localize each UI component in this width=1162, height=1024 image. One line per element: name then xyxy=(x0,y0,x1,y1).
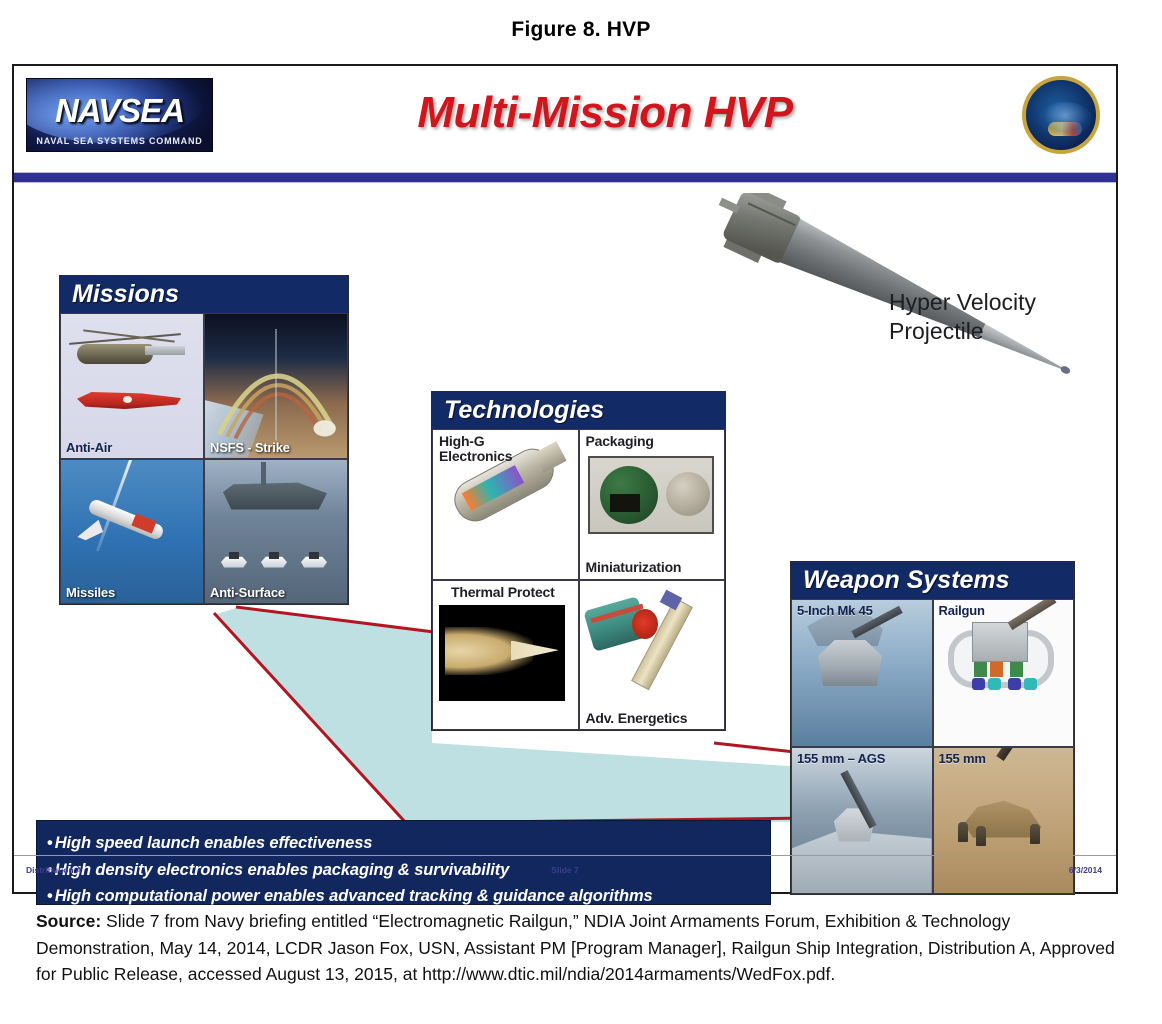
mission-label-anti-surface: Anti-Surface xyxy=(210,585,285,600)
crew-figure-icon xyxy=(976,826,986,846)
slide-title: Multi-Mission HVP xyxy=(224,88,986,138)
railgun-capacitor-icon xyxy=(1024,678,1037,690)
tech-label-thermal-protect: Thermal Protect xyxy=(451,585,555,600)
mission-cell-nsfs-strike[interactable]: NSFS - Strike xyxy=(204,313,348,459)
technologies-cell-grid: High-G Electronics Packaging Miniaturiza… xyxy=(432,429,725,730)
connector-line-missions-to-bullets xyxy=(214,613,406,823)
missile-body-icon xyxy=(87,497,165,540)
projectile-nose-tip xyxy=(1059,365,1071,376)
projectile-tail-stub xyxy=(719,198,741,214)
railgun-capacitor-icon xyxy=(972,678,985,690)
technologies-panel: Technologies High-G Electronics Packagin… xyxy=(431,391,726,731)
bullet-item: High speed launch enables effectiveness xyxy=(47,830,770,857)
small-boat-mark-icon xyxy=(309,552,319,559)
mission-cell-anti-surface[interactable]: Anti-Surface xyxy=(204,459,348,605)
small-boat-mark-icon xyxy=(229,552,239,559)
railgun-module-icon xyxy=(990,662,1003,677)
energetics-cylinder-end-icon xyxy=(632,609,658,639)
figure-caption: Figure 8. HVP xyxy=(0,18,1162,42)
helicopter-tail-icon xyxy=(145,346,185,355)
header-divider-rule xyxy=(14,172,1116,183)
thermal-nose-tip-graphic xyxy=(511,641,559,661)
weapon-systems-cell-grid: 5-Inch Mk 45 Railgun xyxy=(791,599,1074,894)
tech-cell-packaging-miniaturization[interactable]: Packaging Miniaturization xyxy=(579,429,726,580)
connector-line-missions-to-tech xyxy=(236,607,434,632)
missions-panel-title: Missions xyxy=(60,276,348,313)
mission-cell-anti-air[interactable]: Anti-Air xyxy=(60,313,204,459)
railgun-module-icon xyxy=(974,662,987,677)
railgun-capacitor-icon xyxy=(988,678,1001,690)
source-caption: Source: Slide 7 from Navy briefing entit… xyxy=(36,908,1128,988)
railgun-housing-icon xyxy=(972,622,1028,662)
navsea-logo: NAVSEA NAVAL SEA SYSTEMS COMMAND xyxy=(26,78,213,152)
warship-mast-icon xyxy=(261,462,266,486)
mission-label-nsfs-strike: NSFS - Strike xyxy=(210,440,290,455)
slide-footer: Distribution A Slide 7 6/3/2014 xyxy=(14,855,1116,892)
weapon-cell-railgun[interactable]: Railgun xyxy=(933,599,1075,747)
tech-label-miniaturization: Miniaturization xyxy=(586,560,682,575)
slide-header: NAVSEA NAVAL SEA SYSTEMS COMMAND Multi-M… xyxy=(14,66,1116,172)
tech-cell-adv-energetics[interactable]: Adv. Energetics xyxy=(579,580,726,731)
crew-figure-icon xyxy=(1030,824,1040,844)
weapon-label-railgun: Railgun xyxy=(939,603,985,618)
missions-panel: Missions Anti-Air xyxy=(59,275,349,605)
railgun-barrel-icon xyxy=(1007,599,1056,630)
weapon-systems-panel: Weapon Systems 5-Inch Mk 45 xyxy=(790,561,1075,895)
source-label: Source: xyxy=(36,911,101,931)
navsea-subtitle: NAVAL SEA SYSTEMS COMMAND xyxy=(27,136,212,146)
footer-date: 6/3/2014 xyxy=(1069,865,1102,875)
weapon-label-5-inch-mk-45: 5-Inch Mk 45 xyxy=(797,603,873,618)
circuit-board-photo xyxy=(588,456,714,534)
helicopter-body-icon xyxy=(77,344,153,364)
technologies-panel-title: Technologies xyxy=(432,392,725,429)
navsea-wordmark: NAVSEA xyxy=(27,92,212,130)
tech-cell-thermal-protect[interactable]: Thermal Protect xyxy=(432,580,579,731)
trajectory-arc-graphic xyxy=(205,314,347,458)
hyper-velocity-projectile-label: Hyper Velocity Projectile xyxy=(889,288,1036,347)
navy-seal-core-graphic xyxy=(1048,122,1082,136)
drone-marking-icon xyxy=(123,396,132,403)
small-boat-mark-icon xyxy=(269,552,279,559)
howitzer-barrel-icon xyxy=(996,747,1038,761)
mission-label-missiles: Missiles xyxy=(66,585,115,600)
railgun-capacitor-icon xyxy=(1008,678,1021,690)
mission-label-anti-air: Anti-Air xyxy=(66,440,112,455)
tech-label-packaging: Packaging xyxy=(586,434,654,449)
thermal-protection-photo xyxy=(439,605,565,701)
coin-scale-reference-icon xyxy=(666,472,710,516)
mission-cell-missiles[interactable]: Missiles xyxy=(60,459,204,605)
navy-seal-icon xyxy=(1022,76,1100,154)
railgun-module-icon xyxy=(1010,662,1023,677)
slide-frame: NAVSEA NAVAL SEA SYSTEMS COMMAND Multi-M… xyxy=(12,64,1118,894)
warship-icon xyxy=(223,482,327,510)
weapon-label-155mm: 155 mm xyxy=(939,751,986,766)
crew-figure-icon xyxy=(958,822,968,842)
weapon-label-155mm-ags: 155 mm – AGS xyxy=(797,751,885,766)
weapon-cell-5-inch-mk-45[interactable]: 5-Inch Mk 45 xyxy=(791,599,933,747)
tech-cell-high-g-electronics[interactable]: High-G Electronics xyxy=(432,429,579,580)
slide-body: Hyper Velocity Projectile Missions Anti-… xyxy=(14,183,1116,892)
missions-cell-grid: Anti-Air NSFS - Strike xyxy=(60,313,348,604)
footer-slide-number: Slide 7 xyxy=(14,865,1116,875)
tech-label-high-g-electronics: High-G Electronics xyxy=(439,434,512,464)
tech-label-adv-energetics: Adv. Energetics xyxy=(586,711,688,726)
circuit-board-chip-icon xyxy=(610,494,640,512)
source-text: Slide 7 from Navy briefing entitled “Ele… xyxy=(36,911,1115,984)
weapon-systems-panel-title: Weapon Systems xyxy=(791,562,1074,599)
